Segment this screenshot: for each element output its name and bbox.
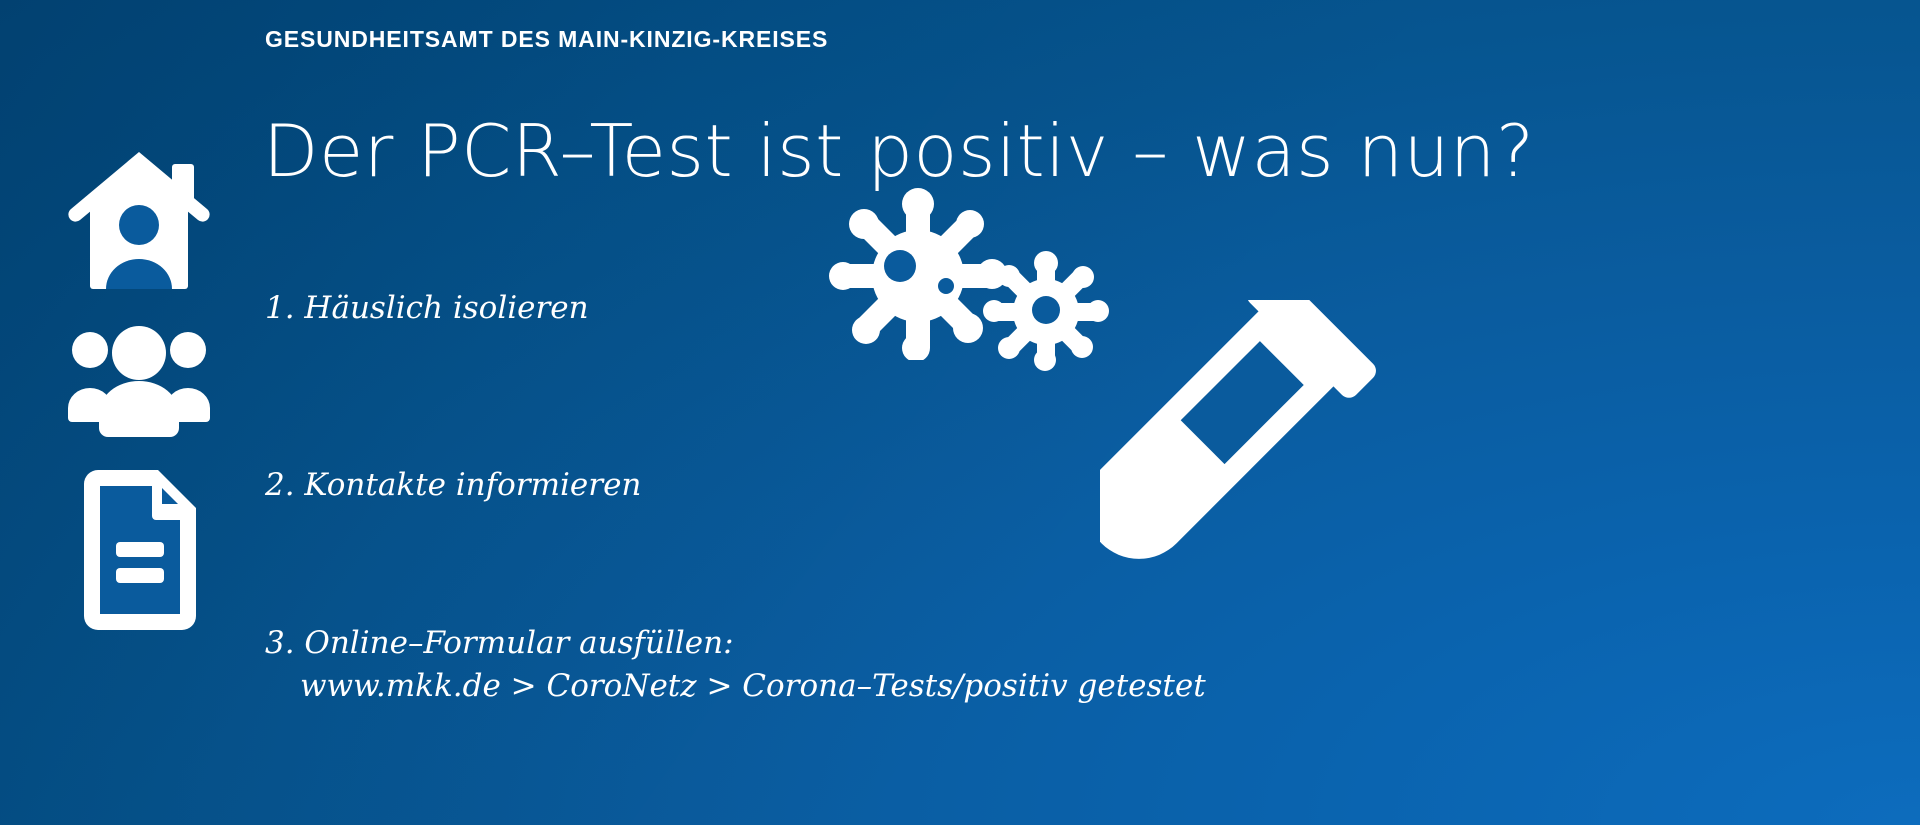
page-title: Der PCR–Test ist positiv – was nun? — [263, 114, 1535, 190]
content-layer: GESUNDHEITSAMT DES MAIN-KINZIG-KREISES D… — [0, 0, 1920, 825]
house-person-icon — [68, 150, 210, 290]
poster-canvas: GESUNDHEITSAMT DES MAIN-KINZIG-KREISES D… — [0, 0, 1920, 825]
virus-small-icon — [982, 250, 1110, 372]
people-group-icon — [66, 326, 212, 438]
organization-kicker: GESUNDHEITSAMT DES MAIN-KINZIG-KREISES — [265, 26, 828, 53]
step-2-label: 2. Kontakte informieren — [265, 467, 641, 503]
step-1-label: 1. Häuslich isolieren — [265, 290, 589, 326]
virus-large-icon — [828, 188, 1008, 360]
test-tube-icon — [1100, 300, 1440, 650]
document-icon — [84, 470, 196, 630]
step-3-label: 3. Online–Formular ausfüllen: — [265, 625, 734, 661]
step-3-url: www.mkk.de > CoroNetz > Corona–Tests/pos… — [300, 668, 1206, 704]
